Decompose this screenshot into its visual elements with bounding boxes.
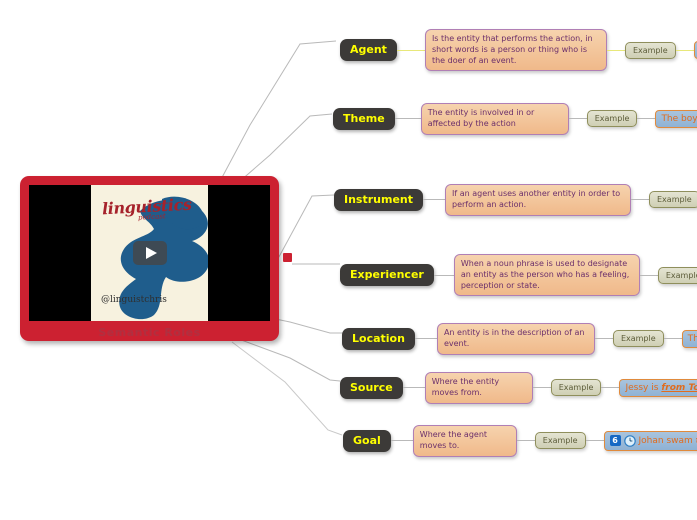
video-caption: Semantic Roles [20, 326, 279, 339]
sentence-location-text: The pa [688, 334, 697, 344]
connector-source-example [533, 387, 551, 388]
description-goal[interactable]: Where the agent moves to. [413, 425, 517, 457]
description-experiencer[interactable]: When a noun phrase is used to designate … [454, 254, 640, 296]
branch-row-agent: Agent Is the entity that performs the ac… [340, 29, 697, 71]
connector-goal-desc [391, 440, 413, 441]
branch-row-location: Location An entity is in the description… [342, 323, 697, 355]
connector-experiencer-desc [434, 275, 454, 276]
connector-instrument-example [631, 199, 649, 200]
description-agent[interactable]: Is the entity that performs the action, … [425, 29, 607, 71]
description-source[interactable]: Where the entity moves from. [425, 372, 533, 404]
mindmap-canvas: linguistics podcast @linguistchris Seman… [0, 0, 697, 520]
branch-row-source: Source Where the entity moves from. Exam… [340, 372, 697, 404]
sentence-source-prefix: Jessy is [625, 383, 658, 393]
sentence-agent[interactable]: The [694, 41, 697, 59]
connector-source-sentence [601, 387, 619, 388]
sentence-location[interactable]: The pa [682, 330, 697, 348]
connector-location-desc [415, 338, 437, 339]
podcast-logo-subtitle: podcast [138, 212, 166, 221]
role-pill-experiencer[interactable]: Experiencer [340, 264, 434, 286]
example-pill-instrument[interactable]: Example [649, 191, 697, 208]
example-pill-experiencer[interactable]: Example [658, 267, 697, 284]
connector-theme-sentence [637, 118, 655, 119]
connector-theme-desc [395, 118, 421, 119]
connector-theme-example [569, 118, 587, 119]
sentence-theme[interactable]: The boy kick [655, 110, 697, 128]
play-icon[interactable] [133, 241, 167, 265]
connector-experiencer-example [640, 275, 658, 276]
clock-icon [624, 435, 636, 447]
role-pill-theme[interactable]: Theme [333, 108, 395, 130]
connector-agent-sentence [676, 50, 694, 51]
connector-agent-desc [397, 50, 425, 51]
example-pill-agent[interactable]: Example [625, 42, 676, 59]
description-theme[interactable]: The entity is involved in or affected by… [421, 103, 569, 135]
connector-location-example [595, 338, 613, 339]
connector-agent-example [607, 50, 625, 51]
sentence-theme-text: The boy kick [661, 114, 697, 124]
sentence-goal-prefix: Johan swam [639, 436, 693, 446]
example-pill-goal[interactable]: Example [535, 432, 586, 449]
role-pill-instrument[interactable]: Instrument [334, 189, 423, 211]
branch-row-instrument: Instrument If an agent uses another enti… [334, 184, 697, 216]
sentence-goal-badge: 6 [610, 435, 621, 446]
sentence-goal[interactable]: 6 Johan swam to th [604, 431, 697, 451]
example-pill-theme[interactable]: Example [587, 110, 638, 127]
role-pill-goal[interactable]: Goal [343, 430, 391, 452]
connector-instrument-desc [423, 199, 445, 200]
branch-row-goal: Goal Where the agent moves to. Example 6… [343, 425, 697, 457]
branch-row-experiencer: Experiencer When a noun phrase is used t… [340, 254, 697, 296]
role-pill-agent[interactable]: Agent [340, 39, 397, 61]
video-node[interactable]: linguistics podcast @linguistchris Seman… [20, 176, 279, 341]
example-pill-location[interactable]: Example [613, 330, 664, 347]
connector-goal-sentence [586, 440, 604, 441]
collapse-handle[interactable] [283, 253, 292, 262]
description-location[interactable]: An entity is in the description of an ev… [437, 323, 595, 355]
sentence-source[interactable]: Jessy is from Toronto [619, 379, 697, 397]
example-pill-source[interactable]: Example [551, 379, 602, 396]
connector-source-desc [403, 387, 425, 388]
video-screen: linguistics podcast @linguistchris [29, 185, 270, 321]
role-pill-location[interactable]: Location [342, 328, 415, 350]
connector-goal-example [517, 440, 535, 441]
description-instrument[interactable]: If an agent uses another entity in order… [445, 184, 631, 216]
role-pill-source[interactable]: Source [340, 377, 403, 399]
podcast-handle: @linguistchris [101, 295, 167, 305]
sentence-source-emphasis: from Toronto [661, 383, 697, 393]
branch-row-theme: Theme The entity is involved in or affec… [333, 103, 697, 135]
connector-location-sentence [664, 338, 682, 339]
